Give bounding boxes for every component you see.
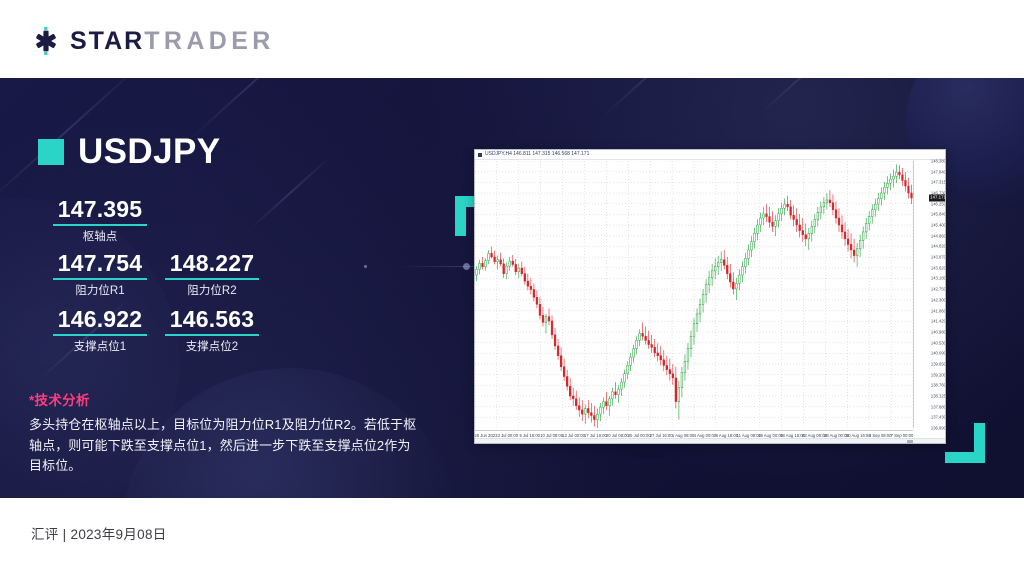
price-tick-label: 142.750 — [931, 287, 946, 292]
page-header: STARTRADER — [0, 0, 1024, 78]
technical-analysis-block: *技术分析 多头持仓在枢轴点以上，目标位为阻力位R1及阻力位R2。若低于枢轴点，… — [29, 391, 419, 477]
level-label: 阻力位R2 — [148, 283, 276, 299]
level-value: 148.227 — [148, 250, 276, 276]
candlestick-canvas — [475, 161, 913, 428]
price-tick-label: 139.650 — [931, 361, 946, 366]
price-tick-label: 141.420 — [931, 319, 946, 324]
page-footer: 汇评 | 2023年9月08日 — [0, 498, 1024, 576]
level-underline — [165, 334, 260, 336]
slide-body: USDJPY 147.395 枢轴点 147.754 阻力位R1 148.227… — [0, 78, 1024, 498]
price-tick-label: 143.180 — [931, 276, 946, 281]
brand-name-primary: STAR — [70, 27, 144, 55]
scrollbar-thumb[interactable] — [907, 440, 913, 443]
level-value: 147.395 — [36, 196, 164, 222]
price-tick-label: 143.620 — [931, 265, 946, 270]
page-title: USDJPY — [78, 134, 220, 169]
dot-decoration — [463, 263, 470, 270]
price-tick-label: 145.840 — [931, 212, 946, 217]
star-asterisk-icon — [31, 26, 61, 56]
symbol-accent-chip — [38, 139, 64, 165]
level-underline — [165, 278, 260, 280]
price-tick-label: 144.860 — [931, 233, 946, 238]
level-value: 146.563 — [148, 306, 276, 332]
level-support-1: 146.922 支撑点位1 — [36, 306, 164, 355]
price-tick-label: 144.820 — [931, 244, 946, 249]
price-tick-label: 140.090 — [931, 351, 946, 356]
price-tick-label: 143.870 — [931, 255, 946, 260]
footer-caption: 汇评 | 2023年9月08日 — [31, 525, 167, 545]
current-price-tag: 147.171 — [929, 194, 946, 201]
brand-wordmark: STARTRADER — [70, 26, 275, 56]
chart-titlebar: USDJPY,H4 146.811 147.315 146.568 147.17… — [475, 150, 945, 160]
chart-horizontal-scrollbar[interactable] — [475, 438, 946, 443]
price-tick-label: 147.315 — [931, 180, 946, 185]
level-label: 阻力位R1 — [36, 283, 164, 299]
level-resistance-1: 147.754 阻力位R1 — [36, 250, 164, 299]
price-tick-label: 139.200 — [931, 372, 946, 377]
price-tick-label: 138.760 — [931, 383, 946, 388]
level-value: 146.922 — [36, 306, 164, 332]
price-tick-label: 136.990 — [931, 426, 946, 431]
corner-bracket-bottom-right — [945, 423, 985, 463]
price-tick-label: 140.980 — [931, 329, 946, 334]
analysis-heading: *技术分析 — [29, 391, 419, 411]
dot-decoration — [364, 265, 367, 268]
level-support-2: 146.563 支撑点位2 — [148, 306, 276, 355]
level-label: 支撑点位2 — [148, 339, 276, 355]
price-tick-label: 137.430 — [931, 415, 946, 420]
brand-name-secondary: TRADER — [144, 27, 275, 55]
level-underline — [53, 224, 148, 226]
level-pivot: 147.395 枢轴点 — [36, 196, 164, 245]
price-tick-label: 145.400 — [931, 223, 946, 228]
symbol-header: USDJPY — [38, 134, 220, 169]
level-label: 支撑点位1 — [36, 339, 164, 355]
level-label: 枢轴点 — [36, 229, 164, 245]
price-tick-label: 142.300 — [931, 297, 946, 302]
chart-plot-area[interactable]: 148.380147.840147.315146.730146.250145.8… — [475, 161, 946, 444]
analysis-body: 多头持仓在枢轴点以上，目标位为阻力位R1及阻力位R2。若低于枢轴点，则可能下跌至… — [29, 415, 419, 477]
level-value: 147.754 — [36, 250, 164, 276]
price-tick-label: 147.840 — [931, 169, 946, 174]
chart-window[interactable]: USDJPY,H4 146.811 147.315 146.568 147.17… — [474, 149, 946, 444]
presentation-slide: STARTRADER USDJPY 147.395 枢轴点 1 — [0, 0, 1024, 576]
price-tick-label: 137.880 — [931, 404, 946, 409]
brand-logo: STARTRADER — [31, 26, 275, 56]
price-tick-label: 141.860 — [931, 308, 946, 313]
chart-symbol-marker-icon — [478, 153, 482, 157]
price-tick-label: 146.250 — [931, 201, 946, 206]
level-resistance-2: 148.227 阻力位R2 — [148, 250, 276, 299]
price-axis[interactable]: 148.380147.840147.315146.730146.250145.8… — [913, 161, 946, 428]
price-tick-label: 138.325 — [931, 393, 946, 398]
level-underline — [53, 334, 148, 336]
level-underline — [53, 278, 148, 280]
price-tick-label: 140.530 — [931, 340, 946, 345]
price-tick-label: 148.380 — [931, 159, 946, 164]
chart-title: USDJPY,H4 146.811 147.315 146.568 147.17… — [485, 151, 589, 158]
